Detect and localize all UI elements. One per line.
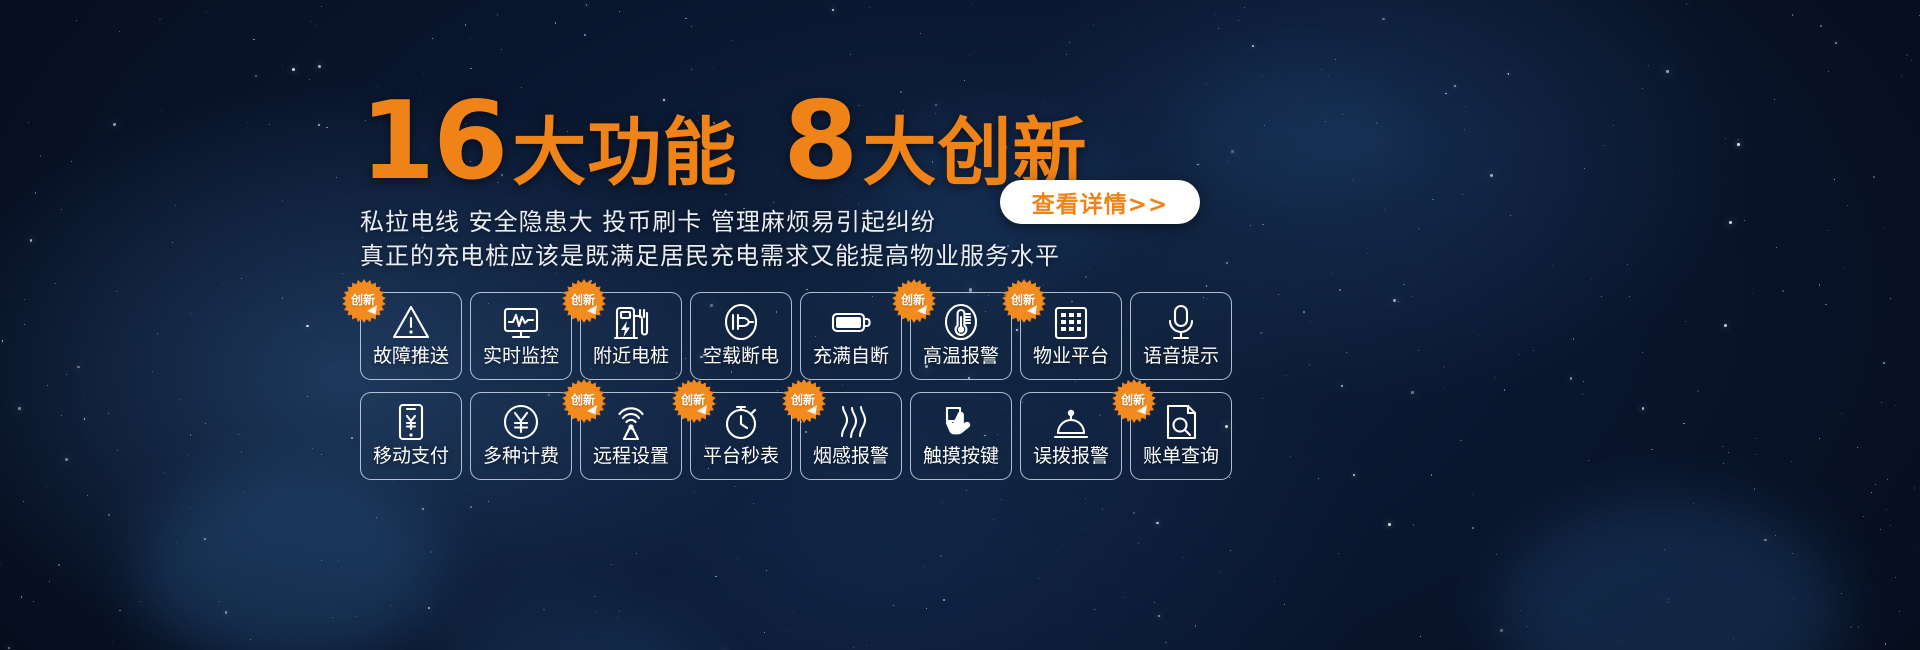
feature-label: 平台秒表 [703,446,779,467]
feature-card-实时监控[interactable]: 实时监控 [470,292,572,380]
feature-label: 误拨报警 [1033,446,1109,467]
smoke-detect-icon [801,400,901,444]
feature-card-移动支付[interactable]: 移动支付 [360,392,462,480]
headline: 16 大功能 8 大创新 [360,88,1087,196]
view-details-button[interactable]: 查看详情>> [1000,180,1200,224]
touch-hand-icon [911,400,1011,444]
plug-circle-icon [691,300,791,344]
feature-label: 实时监控 [483,346,559,367]
thermometer-icon [911,300,1011,344]
stopwatch-icon [691,400,791,444]
alarm-bell-icon [1021,400,1121,444]
headline-number-2: 8 [783,88,856,196]
feature-card-故障推送[interactable]: 创新故障推送 [360,292,462,380]
headline-text-1: 大功能 [512,116,737,190]
feature-card-高温报警[interactable]: 创新高温报警 [910,292,1012,380]
feature-card-平台秒表[interactable]: 创新平台秒表 [690,392,792,480]
feature-card-充满自断[interactable]: 充满自断 [800,292,902,380]
feature-card-烟感报警[interactable]: 创新烟感报警 [800,392,902,480]
feature-card-远程设置[interactable]: 创新远程设置 [580,392,682,480]
battery-full-icon [801,300,901,344]
feature-label: 烟感报警 [813,446,889,467]
headline-number-1: 16 [360,88,506,196]
mobile-payment-icon [361,400,461,444]
feature-card-多种计费[interactable]: 多种计费 [470,392,572,480]
feature-card-误拨报警[interactable]: 误拨报警 [1020,392,1122,480]
headline-text-2: 大创新 [862,116,1087,190]
feature-label: 远程设置 [593,446,669,467]
feature-label: 附近电桩 [593,346,669,367]
subtitle-line-1: 私拉电线 安全隐患大 投币刷卡 管理麻烦易引起纠纷 [360,210,936,234]
feature-label: 多种计费 [483,446,559,467]
feature-label: 语音提示 [1143,346,1219,367]
bill-search-icon [1131,400,1231,444]
feature-label: 移动支付 [373,446,449,467]
feature-label: 高温报警 [923,346,999,367]
feature-card-空载断电[interactable]: 空载断电 [690,292,792,380]
feature-card-物业平台[interactable]: 创新物业平台 [1020,292,1122,380]
yuan-circle-icon [471,400,571,444]
feature-label: 触摸按键 [923,446,999,467]
feature-grid: 创新故障推送实时监控创新附近电桩空载断电充满自断创新高温报警创新物业平台语音提示… [360,292,1232,480]
warning-triangle-icon [361,300,461,344]
feature-card-触摸按键[interactable]: 触摸按键 [910,392,1012,480]
subtitle-line-2: 真正的充电桩应该是既满足居民充电需求又能提高物业服务水平 [360,244,1060,268]
building-icon [1021,300,1121,344]
feature-label: 物业平台 [1033,346,1109,367]
promo-banner: 16 大功能 8 大创新 查看详情>> 私拉电线 安全隐患大 投币刷卡 管理麻烦… [0,0,1920,650]
feature-label: 账单查询 [1143,446,1219,467]
feature-card-账单查询[interactable]: 创新账单查询 [1130,392,1232,480]
charging-pile-icon [581,300,681,344]
feature-label: 空载断电 [703,346,779,367]
monitor-waveform-icon [471,300,571,344]
microphone-icon [1131,300,1231,344]
wireless-signal-icon [581,400,681,444]
feature-label: 充满自断 [813,346,889,367]
feature-card-语音提示[interactable]: 语音提示 [1130,292,1232,380]
feature-card-附近电桩[interactable]: 创新附近电桩 [580,292,682,380]
feature-label: 故障推送 [373,346,449,367]
